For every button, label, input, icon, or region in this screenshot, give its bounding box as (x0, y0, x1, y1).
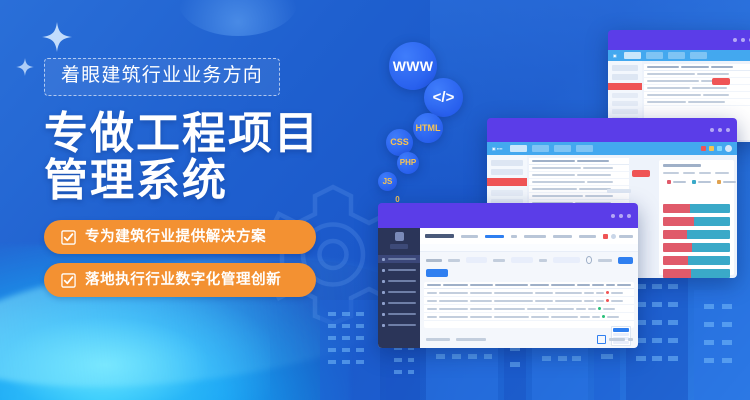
table-row[interactable] (644, 92, 750, 99)
bubble-php-label: PHP (400, 159, 416, 167)
filter-label (493, 259, 505, 262)
bubble-js-label: JS (383, 178, 393, 186)
menu-item-active[interactable] (487, 178, 527, 186)
page-button-active[interactable] (597, 335, 606, 344)
pagination-info (456, 338, 486, 341)
sparkle-icon-small (16, 58, 34, 76)
menu-item[interactable] (378, 321, 420, 329)
window-controls[interactable] (611, 214, 631, 218)
feature-pill-1-label: 专为建筑行业提供解决方案 (85, 230, 266, 245)
bar-row (663, 230, 730, 239)
feature-pill-1[interactable]: 专为建筑行业提供解决方案 (44, 220, 316, 254)
chevron-down-icon[interactable] (511, 235, 518, 238)
headline-line-1: 专做工程项目 (44, 111, 344, 158)
menu-item-active[interactable] (608, 83, 642, 90)
table-row[interactable] (529, 165, 629, 172)
menu-item[interactable] (612, 109, 638, 114)
app-header: ▣ ▪▪▪▪ (487, 142, 737, 155)
toolbar-item[interactable] (579, 235, 596, 238)
app-title (425, 234, 454, 238)
filter-label (539, 259, 548, 262)
pagination[interactable] (426, 334, 633, 344)
background-top-circle (178, 0, 298, 36)
menu-item[interactable] (378, 277, 420, 285)
menu-item[interactable] (491, 190, 523, 196)
menu-item[interactable] (612, 74, 638, 80)
chart-legend (667, 180, 734, 184)
window-title-bar (487, 118, 737, 142)
toolbar-item[interactable] (553, 235, 572, 238)
promo-banner: 着眼建筑行业业务方向 专做工程项目 管理系统 专为建筑行业提供解决方案 (0, 0, 750, 400)
app-logo: ▣ ▪▪▪▪ (492, 146, 503, 151)
window-title-bar (608, 30, 750, 50)
app-nav[interactable] (624, 52, 707, 59)
legend-item (692, 180, 711, 184)
table-row[interactable] (424, 297, 634, 305)
bar-chart (663, 204, 730, 278)
menu-item[interactable] (491, 160, 523, 166)
add-button[interactable] (426, 269, 448, 277)
bubble-php: PHP (397, 152, 419, 174)
table-header-row (529, 158, 629, 165)
table-row[interactable] (529, 179, 629, 186)
app-nav[interactable] (510, 145, 593, 152)
bubble-js: JS (378, 172, 397, 191)
app-header: ▣ (608, 50, 750, 61)
menu-item[interactable] (378, 288, 420, 296)
toolbar-actions[interactable] (603, 234, 633, 239)
side-menu[interactable] (378, 228, 420, 348)
menu-item[interactable] (491, 169, 523, 175)
table-row[interactable] (644, 85, 750, 92)
primary-action-button[interactable] (712, 78, 730, 85)
app-header-actions[interactable] (701, 145, 732, 152)
page-size-label (609, 338, 625, 341)
feature-pill-2[interactable]: 落地执行行业数字化管理创新 (44, 263, 316, 297)
toolbar-item[interactable] (524, 235, 546, 238)
app-logo (378, 228, 420, 244)
chart-title (663, 164, 701, 167)
legend-item (667, 180, 686, 184)
checkbox-check-icon (61, 230, 76, 245)
feature-pill-2-label: 落地执行行业数字化管理创新 (85, 273, 281, 288)
bar-row (663, 243, 730, 252)
chart-panel (659, 160, 734, 275)
table-row[interactable] (424, 289, 634, 297)
bubble-code-label: </> (433, 90, 455, 105)
form-field[interactable] (607, 189, 631, 193)
bubble-code: </> (424, 78, 463, 117)
primary-action-button[interactable] (632, 170, 650, 177)
data-table[interactable] (424, 282, 634, 328)
headline-block: 着眼建筑行业业务方向 专做工程项目 管理系统 专为建筑行业提供解决方案 (44, 58, 344, 306)
toolbar-item[interactable] (461, 235, 478, 238)
menu-item-active[interactable] (378, 255, 420, 263)
menu-item[interactable] (378, 266, 420, 274)
table-row[interactable] (424, 313, 634, 321)
checkbox-check-icon (61, 273, 76, 288)
stat-row (663, 172, 730, 174)
table-row[interactable] (644, 71, 750, 78)
bubble-css-label: CSS (390, 138, 409, 147)
page-title: 专做工程项目 管理系统 (44, 111, 344, 204)
menu-item[interactable] (378, 310, 420, 318)
bubble-www-label: WWW (393, 59, 434, 73)
bar-row (663, 256, 730, 265)
table-row[interactable] (644, 99, 750, 106)
legend-item (717, 180, 736, 184)
filter-select[interactable] (511, 257, 533, 263)
dashboard-window-front[interactable] (378, 203, 638, 348)
toolbar-item-active[interactable] (485, 235, 504, 238)
sparkle-icon (42, 22, 72, 52)
filter-bar[interactable] (426, 255, 633, 265)
app-logo: ▣ (613, 53, 617, 58)
notification-icon[interactable] (603, 234, 608, 239)
date-range-picker[interactable] (553, 257, 579, 263)
filter-label (598, 259, 613, 262)
table-header-row (424, 282, 634, 289)
table-row[interactable] (644, 78, 750, 85)
window-body (378, 228, 638, 348)
table-row[interactable] (529, 193, 629, 200)
pagination-info (426, 338, 450, 341)
user-name (619, 235, 633, 238)
menu-item[interactable] (378, 299, 420, 307)
bar-row (663, 204, 730, 213)
window-controls[interactable] (733, 38, 750, 42)
tagline-box: 着眼建筑行业业务方向 (44, 58, 280, 96)
menu-item[interactable] (612, 93, 638, 98)
search-icon[interactable] (586, 256, 592, 264)
table-header-row (644, 64, 750, 71)
app-toolbar[interactable] (420, 228, 638, 244)
window-title-bar (378, 203, 638, 228)
breadcrumb (420, 244, 638, 252)
filter-label (426, 259, 442, 262)
menu-item[interactable] (612, 101, 638, 106)
headline-line-2: 管理系统 (44, 158, 344, 205)
feature-pill-list: 专为建筑行业提供解决方案 落地执行行业数字化管理创新 (44, 220, 344, 297)
table-row[interactable] (529, 172, 629, 179)
page-number[interactable] (628, 338, 633, 341)
filter-label (448, 259, 460, 262)
menu-item[interactable] (612, 65, 638, 71)
avatar[interactable] (611, 234, 616, 239)
bar-row (663, 217, 730, 226)
table-row[interactable] (424, 305, 634, 313)
bubble-html: HTML (413, 113, 443, 143)
bar-row (663, 269, 730, 278)
filter-select[interactable] (466, 257, 488, 263)
bubble-html-label: HTML (416, 124, 441, 133)
search-button[interactable] (618, 257, 633, 264)
window-controls[interactable] (710, 128, 730, 132)
menu-collapse-button[interactable] (390, 244, 408, 249)
tagline-text: 着眼建筑行业业务方向 (61, 65, 263, 86)
menu-option[interactable] (613, 328, 629, 332)
